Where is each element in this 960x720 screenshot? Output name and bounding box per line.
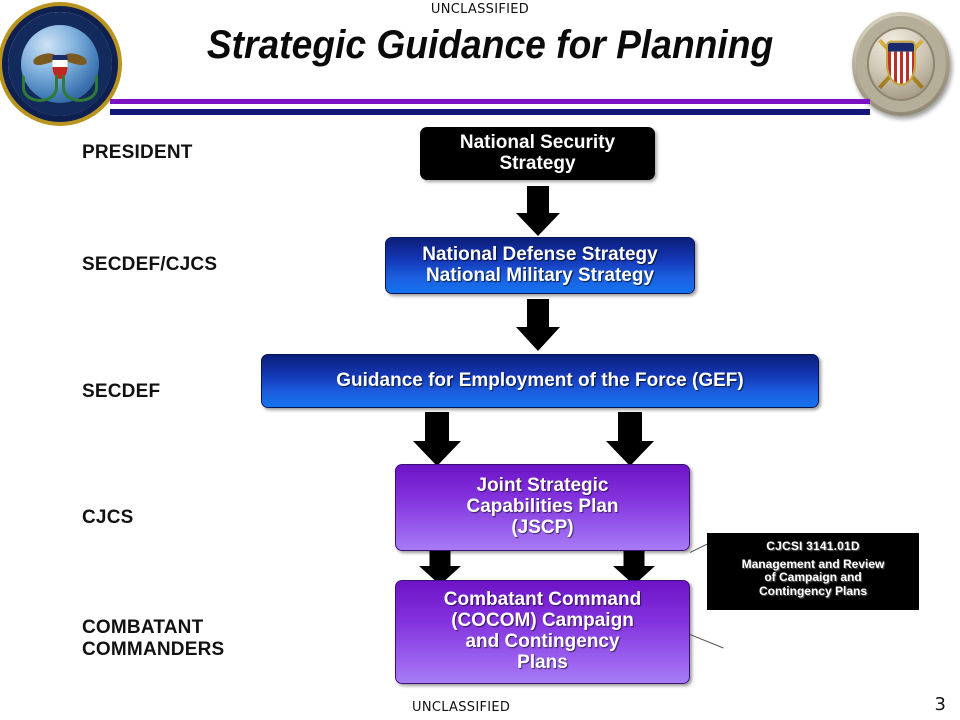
arrow-nds-to-gef	[516, 299, 560, 351]
flow-box-national-security-strategy[interactable]: National Security Strategy	[420, 127, 655, 180]
divider-rule-navy	[110, 109, 870, 115]
flow-box-joint-strategic-capabilities-plan[interactable]: Joint Strategic Capabilities Plan (JSCP)	[395, 464, 690, 551]
flow-box-guidance-for-employment-of-the-force[interactable]: Guidance for Employment of the Force (GE…	[261, 354, 819, 408]
callout-body: Management and Review of Campaign and Co…	[713, 558, 913, 598]
row-label-secdef: SECDEF	[82, 381, 160, 403]
jcs-seal-shield	[888, 43, 914, 84]
arrow-nss-to-nds	[516, 186, 560, 236]
row-label-secdef-cjcs: SECDEF/CJCS	[82, 254, 217, 276]
row-label-combatant-commanders: COMBATANT COMMANDERS	[82, 617, 224, 662]
dod-seal-icon	[8, 12, 112, 116]
connector-cocom-to-callout	[690, 634, 724, 648]
classification-banner-bottom: UNCLASSIFIED	[412, 700, 510, 715]
row-label-president: PRESIDENT	[82, 142, 193, 164]
dod-seal-laurel-left	[22, 74, 58, 102]
page-title: Strategic Guidance for Planning	[174, 24, 806, 66]
dod-seal-laurel-right	[62, 74, 98, 102]
callout-cjcsi-3141[interactable]: CJCSI 3141.01D Management and Review of …	[707, 533, 919, 610]
divider-rule-purple	[110, 99, 870, 104]
flow-box-national-defense-military-strategy[interactable]: National Defense Strategy National Milit…	[385, 237, 695, 294]
classification-banner-top: UNCLASSIFIED	[0, 2, 960, 17]
slide-canvas: UNCLASSIFIED Strategic Guidance for Plan…	[0, 0, 960, 720]
arrow-gef-to-jscp-right	[606, 412, 654, 466]
arrow-gef-to-jscp-left	[413, 412, 461, 466]
callout-title: CJCSI 3141.01D	[713, 539, 913, 553]
row-label-cjcs: CJCS	[82, 507, 133, 529]
slide-number: 3	[935, 694, 946, 715]
flow-box-cocom-campaign-contingency-plans[interactable]: Combatant Command (COCOM) Campaign and C…	[395, 580, 690, 684]
